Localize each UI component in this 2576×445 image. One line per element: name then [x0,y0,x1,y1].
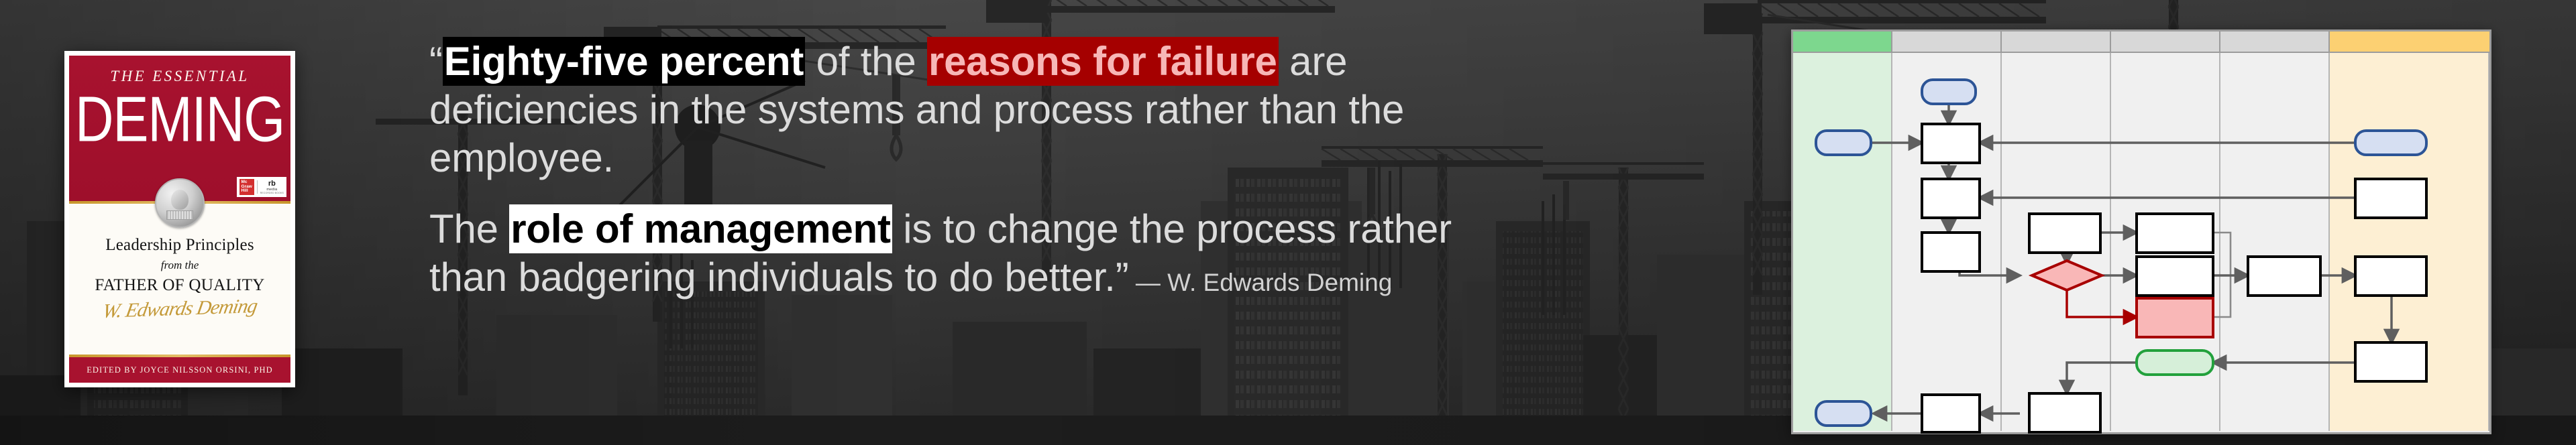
medal-base [166,210,193,220]
logo-divider [257,180,258,194]
lane-body-1 [1793,53,1892,431]
highlight-reasons-for-failure: reasons for failure [927,37,1279,86]
lane-header-6 [2330,31,2489,52]
book-editor-credit: EDITED BY JOYCE NILSSON ORSINI, PhD [87,365,273,375]
quote-line1-tail: are [1279,39,1348,84]
highlight-eighty-five-percent: Eighty-five percent [443,37,805,86]
deming-medal-icon [155,178,205,228]
quote-line-1: “Eighty-five percent of the reasons for … [429,38,1758,86]
rb-media-sub: RECORDED BOOKS [260,192,284,194]
rb-media-logo: rb media RECORDED BOOKS [260,180,284,194]
quote-attribution: — W. Edwards Deming [1129,269,1393,296]
publisher-logos: McGrawHill rb media RECORDED BOOKS [237,177,286,197]
book-title: DEMING [69,90,290,149]
open-quote-mark: “ [429,39,443,84]
lane-body-6 [2330,53,2489,431]
quote-block: “Eighty-five percent of the reasons for … [429,38,1758,307]
flowchart-lane-bodies [1793,53,2489,431]
lane-header-2 [1892,31,2002,52]
attribution-text: — W. Edwards Deming [1136,269,1392,296]
mcgraw-hill-logo: McGrawHill [239,179,254,196]
flowchart-lane-headers [1793,31,2489,53]
lane-header-4 [2111,31,2220,52]
highlight-role-of-management: role of management [509,204,892,253]
book-subtitle-line2: from the [69,259,290,272]
lane-body-4 [2111,53,2220,431]
quote-line-4: The role of management is to change the … [429,205,1758,253]
quote-line1-mid: of the [805,39,927,84]
lane-header-3 [2002,31,2111,52]
lane-body-5 [2220,53,2330,431]
lane-body-3 [2002,53,2111,431]
lane-header-1 [1793,31,1892,52]
lane-header-5 [2220,31,2330,52]
deming-signature: W. Edwards Deming [69,294,290,324]
book-cover-bottom: EDITED BY JOYCE NILSSON ORSINI, PhD [69,357,290,383]
book-cover-middle: Leadership Principles from the FATHER OF… [69,204,290,355]
quote-line4-tail: is to change the process rather [892,206,1452,251]
rb-mark: rb [260,180,284,188]
quote-line4-pre: The [429,206,509,251]
quote-line5-text: than badgering individuals to do better.… [429,255,1129,300]
banner-stage: THE ESSENTIAL DEMING McGrawHill rb media… [0,0,2576,445]
swimlane-flowchart-panel [1791,29,2491,434]
medal-portrait [171,190,189,210]
quote-line-2: deficiencies in the systems and process … [429,86,1758,134]
quote-line-5: than badgering individuals to do better.… [429,253,1758,307]
book-subtitle-line3: FATHER OF QUALITY [69,276,290,295]
quote-line-3: employee. [429,134,1758,182]
quote-paragraph-gap [429,182,1758,205]
book-cover-image: THE ESSENTIAL DEMING McGrawHill rb media… [64,51,295,387]
book-subtitle-line1: Leadership Principles [69,236,290,255]
lane-body-2 [1892,53,2002,431]
